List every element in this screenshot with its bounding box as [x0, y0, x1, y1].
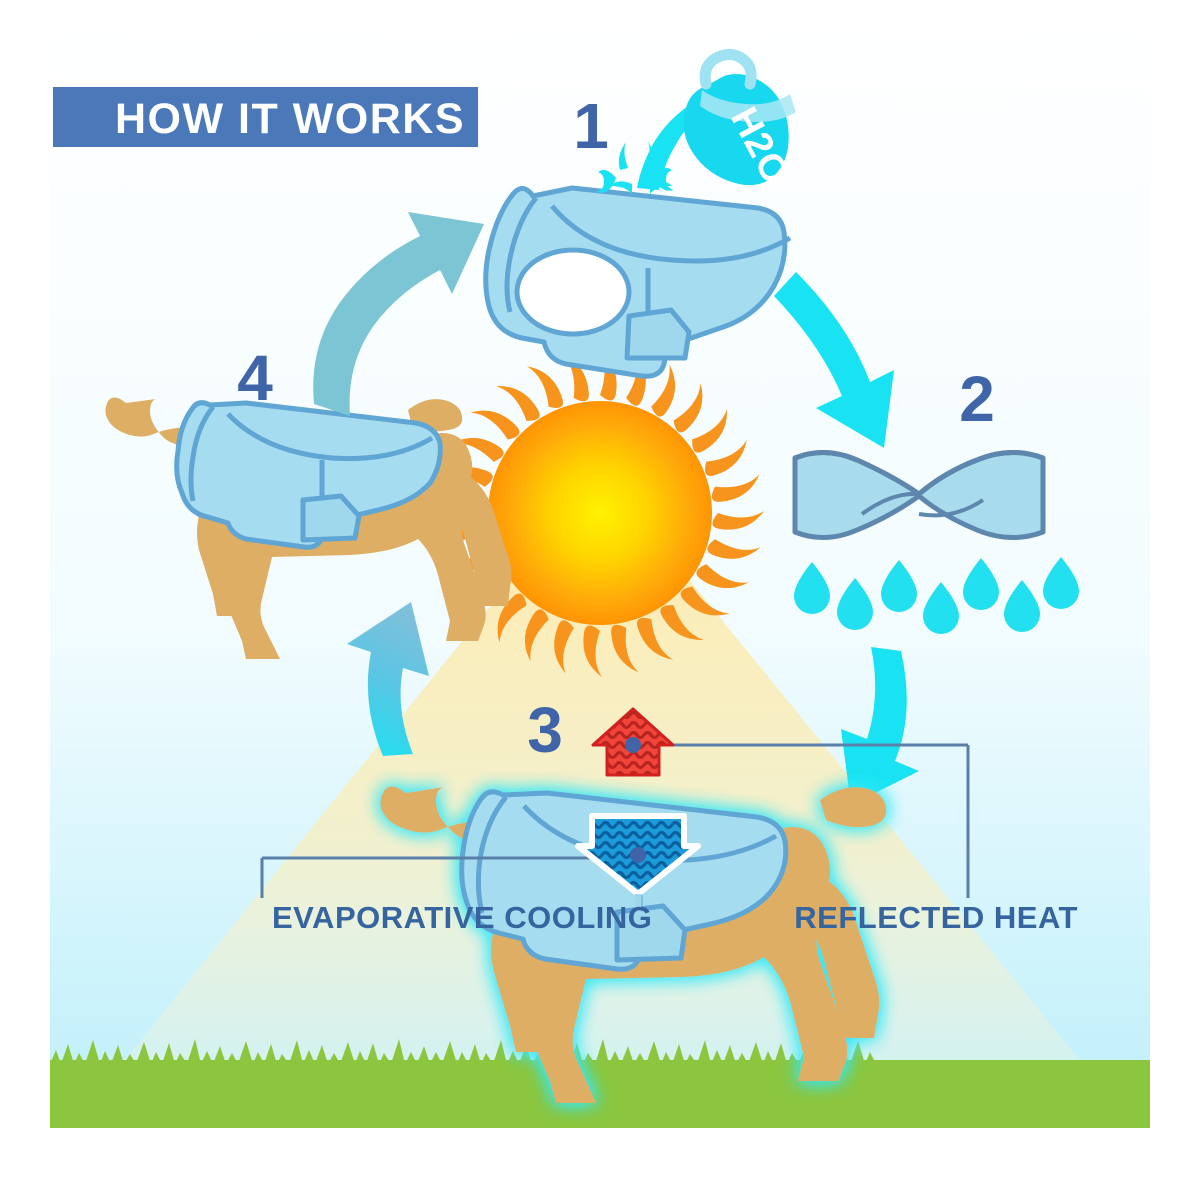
banner-title: HOW IT WORKS — [115, 95, 465, 143]
step-1-number: 1 — [573, 90, 609, 162]
step-4-number: 4 — [237, 342, 273, 414]
how-it-works-banner: HOW IT WORKS — [53, 87, 478, 147]
vest-leg-opening — [517, 250, 629, 334]
sun-disc — [488, 401, 712, 625]
heat-arrow-node — [625, 737, 641, 753]
step-3-number: 3 — [527, 694, 563, 766]
evaporative-cooling-label: EVAPORATIVE COOLING — [272, 900, 652, 935]
step-2-number: 2 — [959, 363, 995, 435]
reflected-heat-label: REFLECTED HEAT — [794, 900, 1078, 935]
infographic-canvas: H2O 1 2 — [0, 0, 1200, 1200]
how-it-works-diagram: H2O 1 2 — [0, 0, 1200, 1200]
cool-arrow-node — [630, 847, 646, 863]
